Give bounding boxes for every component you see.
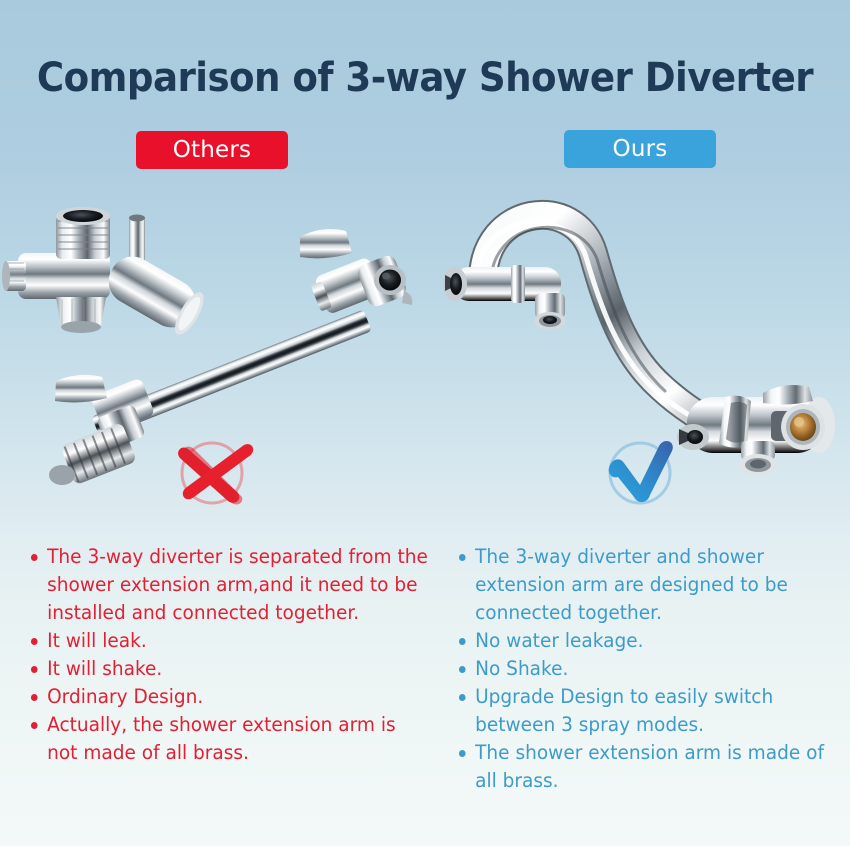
list-item: Ordinary Design. bbox=[30, 683, 429, 711]
arm-upper-joint bbox=[300, 229, 412, 317]
spout-head bbox=[443, 265, 566, 330]
gooseneck-arm bbox=[477, 215, 725, 432]
list-item: Actually, the shower extension arm is no… bbox=[30, 711, 429, 767]
list-item: It will leak. bbox=[30, 627, 429, 655]
list-item: Upgrade Design to easily switch between … bbox=[458, 683, 848, 739]
list-item: It will shake. bbox=[30, 655, 429, 683]
arm-lower-joint bbox=[49, 375, 155, 486]
integrated-diverter-valve bbox=[677, 385, 835, 476]
list-item: The 3-way diverter is separated from the… bbox=[30, 543, 429, 627]
page-title: Comparison of 3-way Shower Diverter bbox=[30, 55, 821, 101]
list-item: No Shake. bbox=[458, 655, 848, 683]
bullet-list-others: The 3-way diverter is separated from the… bbox=[30, 543, 429, 767]
product-image-stage bbox=[0, 175, 850, 520]
badge-others: Others bbox=[136, 131, 288, 169]
check-mark-icon bbox=[596, 435, 688, 516]
infographic-page: Comparison of 3-way Shower Diverter Othe… bbox=[0, 0, 850, 846]
bullet-list-ours: The 3-way diverter and shower extension … bbox=[458, 543, 848, 795]
diverter-valve-body bbox=[2, 207, 209, 339]
list-item: The shower extension arm is made of all … bbox=[458, 739, 848, 795]
list-item: The 3-way diverter and shower extension … bbox=[458, 543, 848, 627]
cross-mark-icon bbox=[168, 435, 260, 516]
badge-ours: Ours bbox=[564, 130, 716, 168]
list-item: No water leakage. bbox=[458, 627, 848, 655]
